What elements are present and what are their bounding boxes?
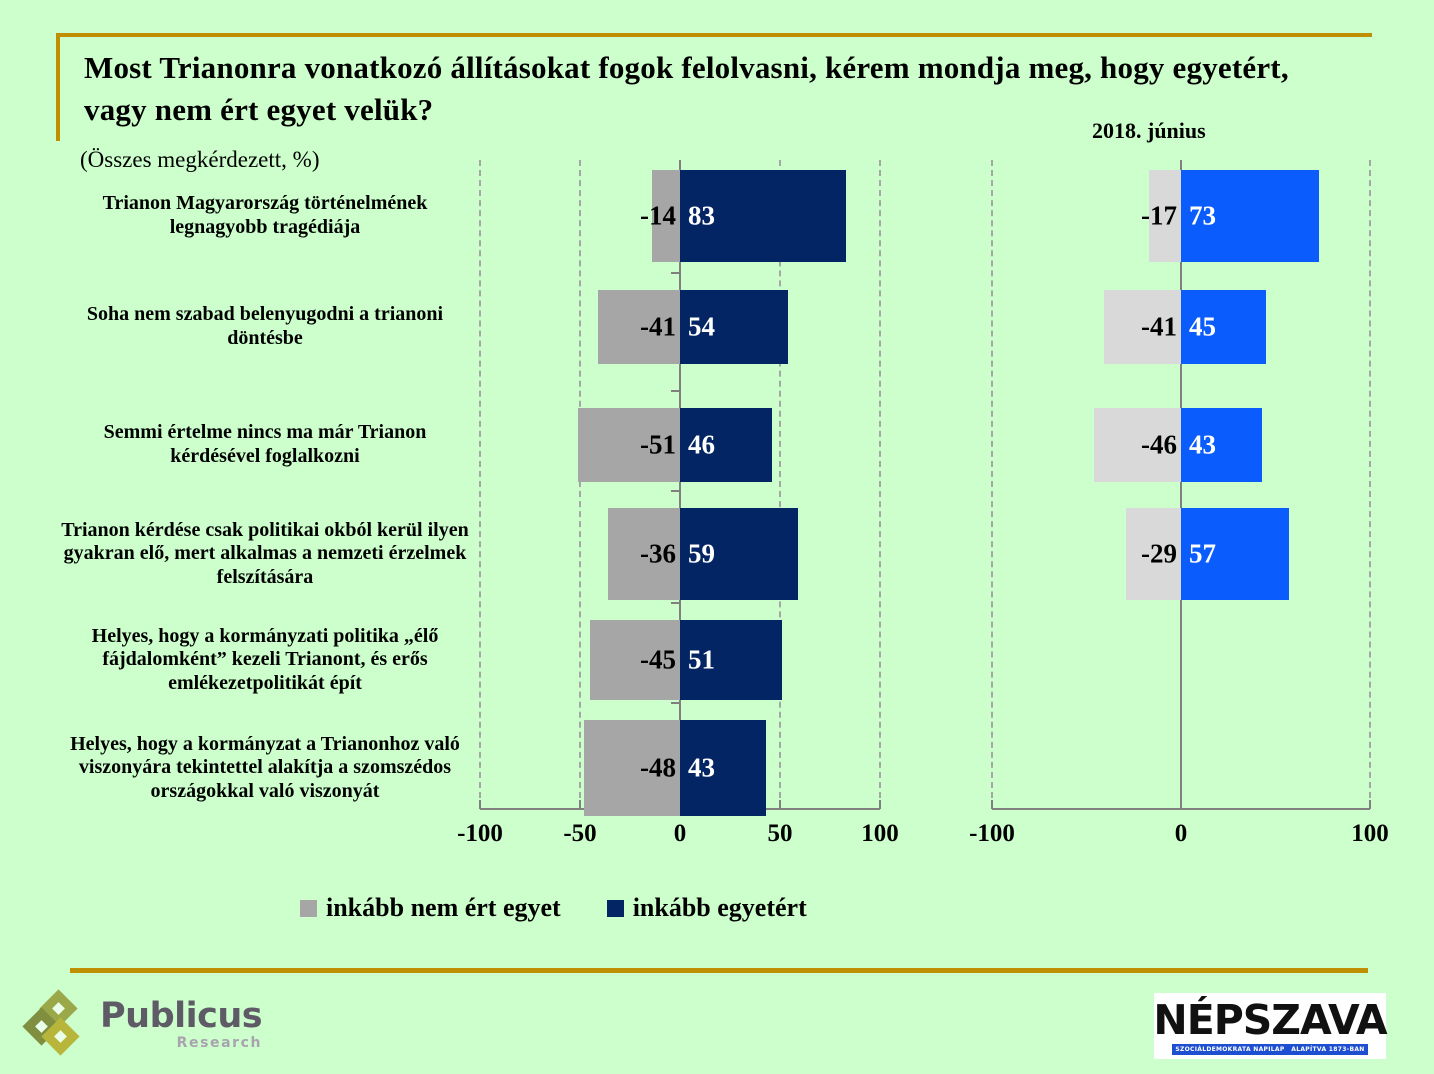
bar-value-label-agree: 51	[688, 645, 715, 676]
nepszava-tagline-left: SZOCIÁLDEMOKRATA NAPILAP	[1175, 1046, 1284, 1053]
bar-row: -4145	[992, 290, 1370, 364]
bar-row: -4154	[480, 290, 880, 364]
bar-row: -4551	[480, 620, 880, 700]
bar-row: -1773	[992, 170, 1370, 262]
bar-value-label-disagree: -29	[1141, 539, 1177, 570]
chart-area: -100-50050100-1483-4154-5146-3659-4551-4…	[0, 160, 1434, 860]
bar-row: -4643	[992, 408, 1370, 482]
bar-segment-disagree[interactable]: -41	[1104, 290, 1181, 364]
nepszava-tagline-bar: SZOCIÁLDEMOKRATA NAPILAP ALAPÍTVA 1873-B…	[1172, 1044, 1368, 1055]
chart-panel-right: -1000100-1773-4145-4643-2957	[992, 160, 1370, 860]
x-axis-tick-label: 50	[768, 820, 793, 848]
category-tick	[671, 390, 680, 392]
bar-segment-agree[interactable]: 54	[680, 290, 788, 364]
bar-value-label-agree: 43	[1189, 430, 1216, 461]
category-tick	[671, 602, 680, 604]
bar-value-label-agree: 59	[688, 539, 715, 570]
bar-row: -1483	[480, 170, 880, 262]
legend-label: inkább egyetért	[633, 893, 807, 923]
category-tick	[671, 272, 680, 274]
bar-value-label-agree: 54	[688, 312, 715, 343]
bar-row: -2957	[992, 508, 1370, 600]
bar-value-label-agree: 45	[1189, 312, 1216, 343]
bar-segment-disagree[interactable]: -45	[590, 620, 680, 700]
bar-value-label-agree: 46	[688, 430, 715, 461]
bar-value-label-agree: 57	[1189, 539, 1216, 570]
x-axis-tick-label: -50	[563, 820, 596, 848]
legend-item[interactable]: inkább nem ért egyet	[300, 893, 561, 923]
x-axis-tick	[1369, 800, 1371, 809]
bar-value-label-disagree: -36	[640, 539, 676, 570]
bar-value-label-disagree: -46	[1141, 430, 1177, 461]
nepszava-tagline-right: ALAPÍTVA 1873-BAN	[1291, 1046, 1364, 1053]
gold-horizontal-rule	[70, 968, 1368, 973]
bar-value-label-agree: 83	[688, 201, 715, 232]
legend-label: inkább nem ért egyet	[326, 893, 561, 923]
bar-segment-agree[interactable]: 43	[1181, 408, 1262, 482]
x-axis-tick-label: 100	[1351, 820, 1389, 848]
bar-value-label-disagree: -14	[640, 201, 676, 232]
bar-segment-agree[interactable]: 59	[680, 508, 798, 600]
bar-segment-disagree[interactable]: -14	[652, 170, 680, 262]
bar-value-label-disagree: -51	[640, 430, 676, 461]
period-label: 2018. június	[1092, 118, 1206, 144]
bar-segment-agree[interactable]: 46	[680, 408, 772, 482]
bar-row: -5146	[480, 408, 880, 482]
legend-swatch-icon	[300, 900, 317, 917]
bar-value-label-agree: 43	[688, 753, 715, 784]
publicus-logo-name: Publicus	[100, 999, 262, 1034]
bar-segment-agree[interactable]: 73	[1181, 170, 1319, 262]
category-tick	[671, 490, 680, 492]
x-axis-tick-label: 100	[861, 820, 899, 848]
bar-segment-disagree[interactable]: -29	[1126, 508, 1181, 600]
chart-legend: inkább nem ért egyetinkább egyetért	[300, 893, 807, 923]
bar-segment-disagree[interactable]: -46	[1094, 408, 1181, 482]
x-axis-tick-label: 0	[674, 820, 687, 848]
bar-segment-agree[interactable]: 83	[680, 170, 846, 262]
bar-value-label-disagree: -41	[1141, 312, 1177, 343]
bar-value-label-agree: 73	[1189, 201, 1216, 232]
bar-segment-disagree[interactable]: -48	[584, 720, 680, 816]
bar-segment-disagree[interactable]: -17	[1149, 170, 1181, 262]
bar-value-label-disagree: -45	[640, 645, 676, 676]
bar-value-label-disagree: -48	[640, 753, 676, 784]
bar-segment-disagree[interactable]: -51	[578, 408, 680, 482]
bar-row: -4843	[480, 720, 880, 816]
chart-panel-left: -100-50050100-1483-4154-5146-3659-4551-4…	[480, 160, 880, 860]
bar-row: -3659	[480, 508, 880, 600]
bar-segment-agree[interactable]: 43	[680, 720, 766, 816]
bar-value-label-disagree: -41	[640, 312, 676, 343]
x-axis-tick-label: 0	[1175, 820, 1188, 848]
x-axis-tick	[991, 800, 993, 809]
bar-segment-agree[interactable]: 45	[1181, 290, 1266, 364]
bar-value-label-disagree: -17	[1141, 201, 1177, 232]
bar-segment-agree[interactable]: 57	[1181, 508, 1289, 600]
nepszava-logo-name: NÉPSZAVA	[1153, 1000, 1386, 1041]
category-tick	[671, 702, 680, 704]
publicus-research-logo: Publicus Research	[28, 988, 258, 1060]
legend-swatch-icon	[607, 900, 624, 917]
publicus-diamond-icon	[28, 993, 90, 1055]
bar-segment-disagree[interactable]: -41	[598, 290, 680, 364]
bar-segment-disagree[interactable]: -36	[608, 508, 680, 600]
x-axis-tick-label: -100	[969, 820, 1015, 848]
legend-item[interactable]: inkább egyetért	[607, 893, 807, 923]
x-axis-tick	[1180, 800, 1182, 809]
nepszava-logo: NÉPSZAVA SZOCIÁLDEMOKRATA NAPILAP ALAPÍT…	[1154, 993, 1386, 1059]
bar-segment-agree[interactable]: 51	[680, 620, 782, 700]
x-axis-tick-label: -100	[457, 820, 503, 848]
publicus-logo-sub: Research	[100, 1036, 262, 1050]
